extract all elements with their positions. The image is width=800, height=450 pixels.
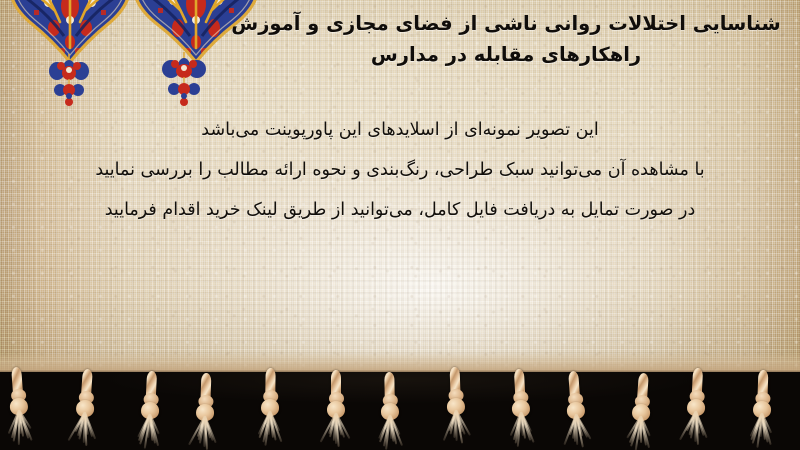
tassel <box>191 371 220 450</box>
slide-body-line-3: در صورت تمایل به دریافت فایل کامل، می‌تو… <box>18 190 782 230</box>
tassel <box>3 364 35 450</box>
tassel <box>506 366 536 450</box>
slide-title-line-1: شناسایی اختلالات روانی ناشی از فضای مجاز… <box>231 12 780 35</box>
slide-body-line-1: این تصویر نمونه‌ای از اسلایدهای این پاور… <box>18 110 782 150</box>
carpet-tassel-fringe <box>0 362 800 450</box>
text-layer: شناسایی اختلالات روانی ناشی از فضای مجاز… <box>0 0 800 378</box>
slide-title-line-2: راهکارهای مقابله در مدارس <box>371 43 641 66</box>
tassel <box>256 366 283 450</box>
tassel <box>323 368 349 450</box>
tassel-fray <box>443 410 470 450</box>
tassel-fray <box>69 411 98 450</box>
tassel-fray <box>377 415 404 450</box>
tassel-fray <box>256 411 283 450</box>
slide-canvas: شناسایی اختلالات روانی ناشی از فضای مجاز… <box>0 0 800 450</box>
slide-body: این تصویر نمونه‌ای از اسلایدهای این پاور… <box>18 110 782 230</box>
tassel-fray <box>748 413 775 450</box>
tassel <box>442 365 471 450</box>
tassel <box>376 370 403 450</box>
slide-title: شناسایی اختلالات روانی ناشی از فضای مجاز… <box>226 8 786 70</box>
tassel-fray <box>681 410 709 450</box>
tassel-fray <box>508 411 536 450</box>
tassel <box>748 368 777 450</box>
tassel <box>560 368 592 450</box>
tassel <box>69 366 101 450</box>
tassel-fray <box>135 413 163 450</box>
tassel-fray <box>323 413 349 450</box>
tassel-fray <box>191 416 218 450</box>
slide-body-line-2: با مشاهده آن می‌توانید سبک طراحی، رنگ‌بن… <box>18 150 782 190</box>
tassel <box>625 370 657 450</box>
tassel-fray <box>6 409 35 450</box>
tassel-fray <box>625 415 654 450</box>
tassel <box>681 365 711 450</box>
tassel <box>135 368 165 450</box>
tassel-fray <box>563 413 592 450</box>
